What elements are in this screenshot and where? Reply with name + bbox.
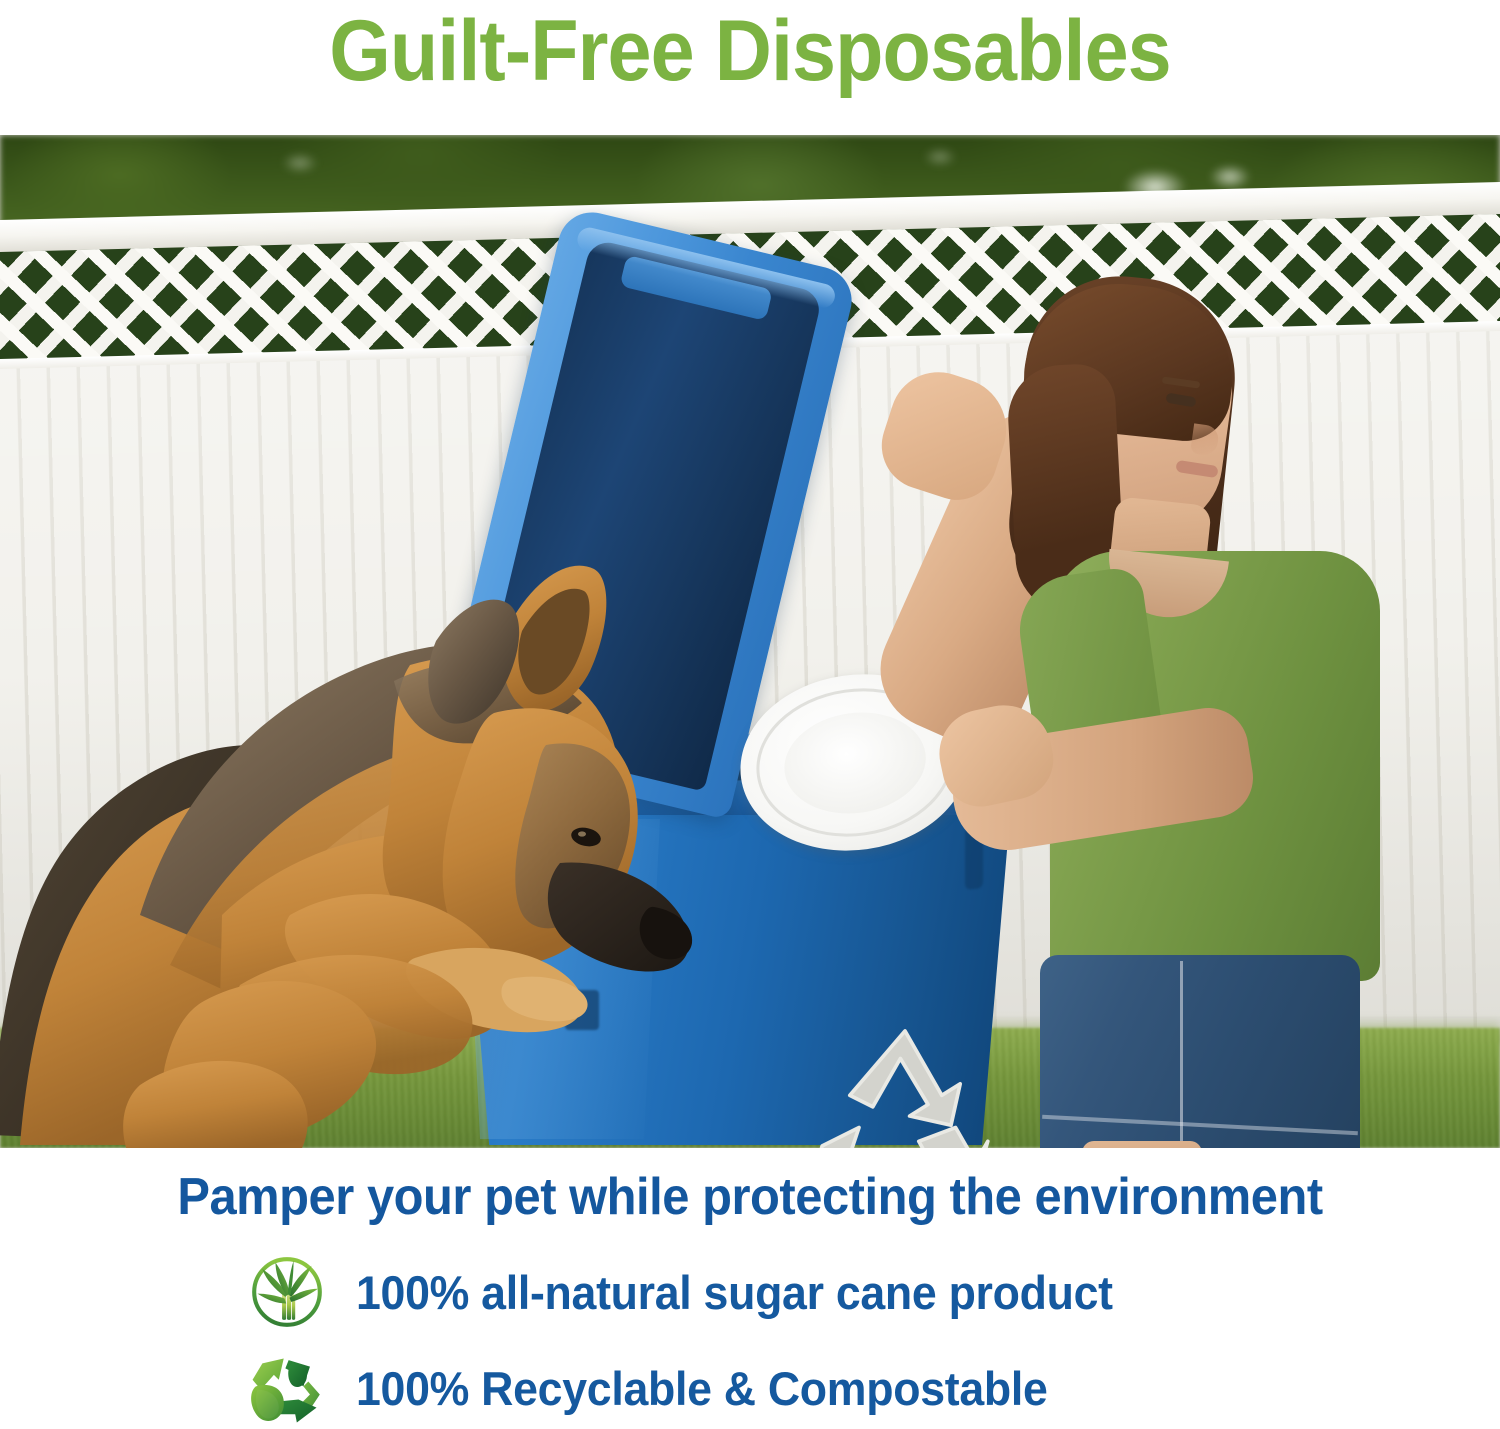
sugar-cane-icon [244, 1249, 330, 1335]
list-item: 100% all-natural sugar cane product [0, 1244, 1500, 1340]
list-item: 100% Recyclable & Compostable [0, 1340, 1500, 1429]
woman-shorts-seam [1180, 961, 1183, 1148]
woman-figure [930, 255, 1450, 1148]
woman-leg [1082, 1141, 1202, 1148]
german-shepherd-dog [0, 445, 710, 1148]
list-item-label: 100% Recyclable & Compostable [356, 1365, 1048, 1412]
product-lifestyle-photo [0, 135, 1500, 1148]
list-item-label: 100% all-natural sugar cane product [356, 1269, 1113, 1316]
page-title: Guilt-Free Disposables [60, 0, 1440, 102]
recycle-icon [244, 1345, 330, 1429]
feature-list: 100% all-natural sugar cane product [0, 1244, 1500, 1429]
product-infographic: Guilt-Free Disposables [0, 0, 1500, 1429]
subheading: Pamper your pet while protecting the env… [45, 1166, 1455, 1228]
